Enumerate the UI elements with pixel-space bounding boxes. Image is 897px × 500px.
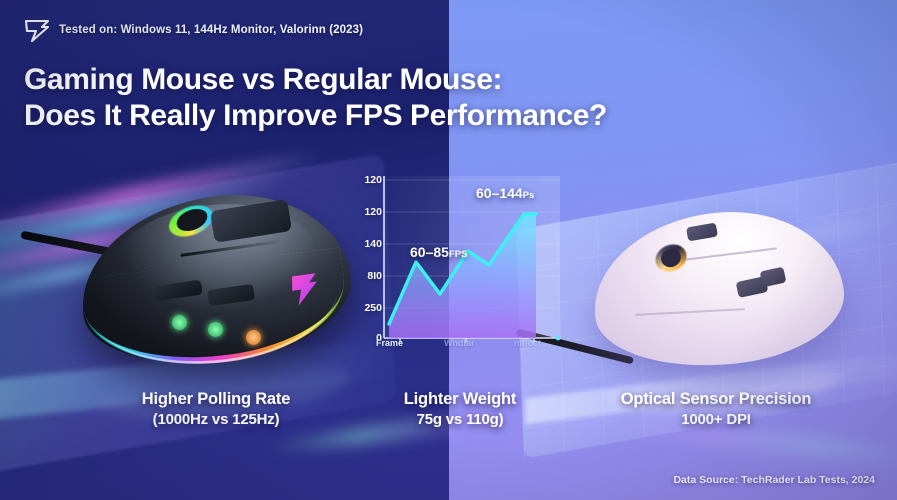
- gaming-mouse-led-green: [172, 315, 187, 330]
- x-tick-label: Wndlar: [444, 338, 475, 348]
- y-tick-label: 140: [364, 238, 382, 250]
- regular-mouse-image: [575, 195, 865, 410]
- gaming-mouse-image: [60, 175, 370, 405]
- caption-row: Higher Polling Rate (1000Hz vs 125Hz) Li…: [0, 390, 897, 450]
- shield-chevron-logo-icon: [24, 18, 50, 42]
- headline-line-2: Does It Really Improve FPS Performance?: [24, 98, 897, 134]
- caption-title: Higher Polling Rate: [56, 390, 376, 409]
- caption-title: Lighter Weight: [360, 390, 560, 409]
- page-title: Gaming Mouse vs Regular Mouse: Does It R…: [24, 62, 897, 134]
- data-source-label: Data Source: TechRader Lab Tests, 2024: [673, 474, 875, 486]
- y-tick-label: 120: [364, 206, 382, 218]
- caption-subtitle: 1000+ DPI: [556, 411, 876, 428]
- infographic-canvas: Tested on: Windows 11, 144Hz Monitor, Va…: [0, 0, 897, 500]
- headline-line-1: Gaming Mouse vs Regular Mouse:: [24, 63, 502, 96]
- caption-polling-rate: Higher Polling Rate (1000Hz vs 125Hz): [56, 390, 376, 428]
- x-tick-label: Frame: [376, 338, 403, 348]
- caption-title: Optical Sensor Precision: [556, 390, 876, 409]
- fps-area-chart: 120 120 140 8I0 250 0 Frame Wndlar mfloc…: [348, 172, 563, 364]
- x-tick-label: mfloct: [514, 338, 541, 348]
- header: Tested on: Windows 11, 144Hz Monitor, Va…: [0, 0, 897, 134]
- brand-line: Tested on: Windows 11, 144Hz Monitor, Va…: [24, 18, 897, 42]
- chart-x-tick-labels: Frame Wndlar mfloct: [366, 338, 562, 360]
- caption-subtitle: (1000Hz vs 125Hz): [56, 411, 376, 428]
- annotation-value: 60–144: [476, 185, 523, 201]
- gaming-mouse-led-green: [208, 322, 223, 337]
- annotation-unit: Ps: [523, 190, 535, 201]
- caption-subtitle: 75g vs 110g): [360, 411, 560, 428]
- y-tick-label: 250: [364, 302, 382, 314]
- tested-on-label: Tested on: Windows 11, 144Hz Monitor, Va…: [59, 24, 363, 36]
- regular-mouse-body: [586, 200, 851, 377]
- gaming-mouse-led-orange: [246, 330, 261, 345]
- chart-y-tick-labels: 120 120 140 8I0 250 0: [348, 172, 382, 342]
- y-tick-label: 120: [364, 174, 382, 186]
- annotation-unit: FPS: [449, 249, 467, 260]
- chart-annotation-mid: 60–85FPS: [410, 244, 467, 262]
- annotation-value: 60–85: [410, 244, 449, 260]
- y-tick-label: 8I0: [367, 270, 382, 282]
- caption-weight: Lighter Weight 75g vs 110g): [360, 390, 560, 428]
- chart-annotation-peak: 60–144Ps: [476, 185, 534, 203]
- caption-sensor: Optical Sensor Precision 1000+ DPI: [556, 390, 876, 428]
